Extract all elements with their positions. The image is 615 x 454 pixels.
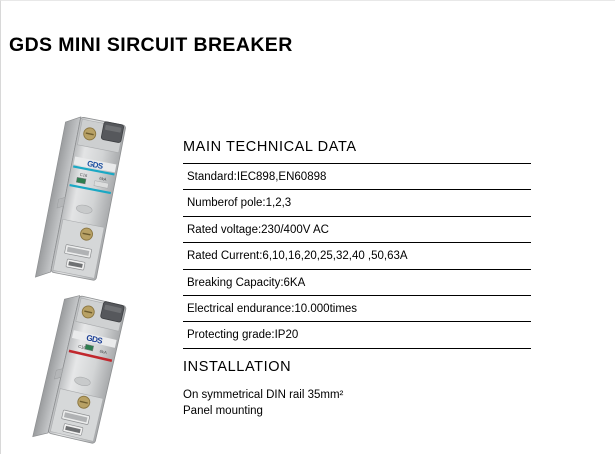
table-row: Electrical endurance:10.000times: [183, 295, 531, 321]
spec-rated-current: Rated Current:6,10,16,20,25,32,40 ,50,63…: [183, 243, 531, 269]
breaker-illustration-blue: GDS C16 6kA: [29, 105, 139, 295]
breaker-illustration-red: GDS C16 6kA: [25, 289, 140, 451]
spec-rated-voltage: Rated voltage:230/400V AC: [183, 216, 531, 242]
table-row: Numberof pole:1,2,3: [183, 190, 531, 216]
installation-list: On symmetrical DIN rail 35mm² Panel moun…: [183, 387, 531, 419]
spec-protecting-grade: Protecting grade:IP20: [183, 322, 531, 348]
list-item: Panel mounting: [183, 403, 531, 419]
installation-heading: INSTALLATION: [183, 359, 531, 375]
list-item: On symmetrical DIN rail 35mm²: [183, 387, 531, 403]
table-row: Breaking Capacity:6KA: [183, 269, 531, 295]
product-datasheet-page: GDS MINI SIRCUIT BREAKER: [0, 0, 615, 454]
technical-data-heading: MAIN TECHNICAL DATA: [183, 139, 531, 155]
table-row: Standard:IEC898,EN60898: [183, 164, 531, 190]
spec-standard: Standard:IEC898,EN60898: [183, 164, 531, 190]
table-row: Rated Current:6,10,16,20,25,32,40 ,50,63…: [183, 243, 531, 269]
product-image-breaker-red: GDS C16 6kA: [25, 289, 140, 451]
technical-data-section: MAIN TECHNICAL DATA Standard:IEC898,EN60…: [183, 139, 531, 349]
page-title: GDS MINI SIRCUIT BREAKER: [9, 34, 293, 57]
technical-data-table: Standard:IEC898,EN60898 Numberof pole:1,…: [183, 163, 531, 349]
table-row: Rated voltage:230/400V AC: [183, 216, 531, 242]
product-image-breaker-blue: GDS C16 6kA: [29, 105, 139, 295]
spec-breaking-capacity: Breaking Capacity:6KA: [183, 269, 531, 295]
installation-section: INSTALLATION On symmetrical DIN rail 35m…: [183, 359, 531, 419]
spec-electrical-endurance: Electrical endurance:10.000times: [183, 295, 531, 321]
spec-number-of-pole: Numberof pole:1,2,3: [183, 190, 531, 216]
table-row: Protecting grade:IP20: [183, 322, 531, 348]
